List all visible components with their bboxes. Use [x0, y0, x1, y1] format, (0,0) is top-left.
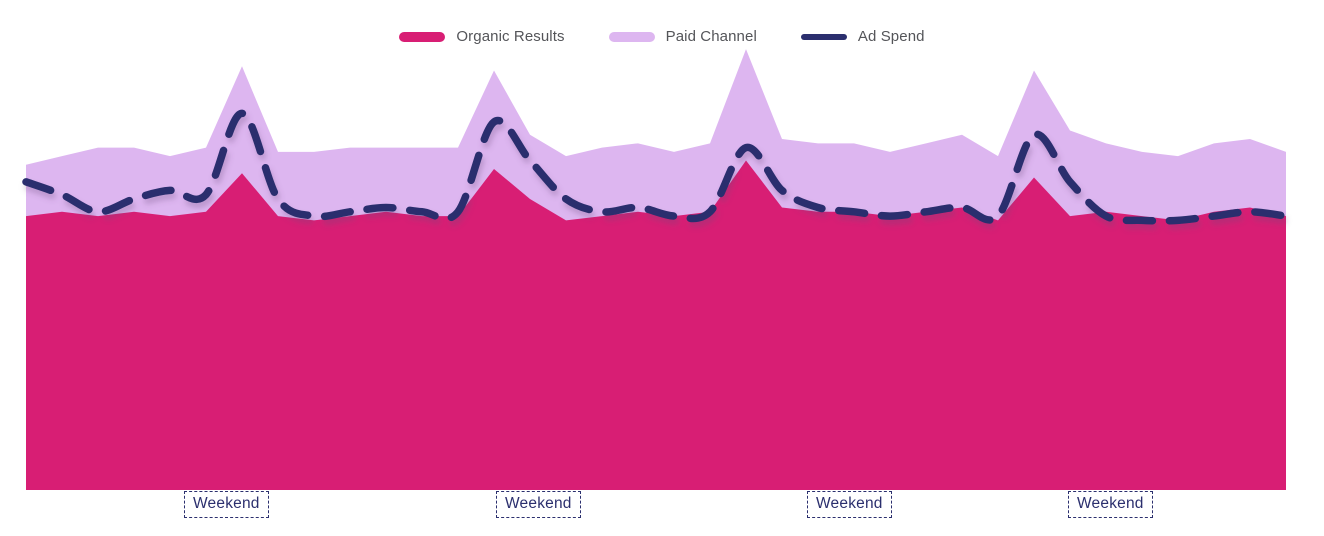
weekend-annotation-label: Weekend: [816, 495, 883, 512]
weekend-annotation: Weekend: [807, 491, 892, 518]
weekend-annotation: Weekend: [1068, 491, 1153, 518]
weekend-annotation-label: Weekend: [193, 495, 260, 512]
area-chart: Organic Results Paid Channel Ad Spend: [0, 0, 1324, 536]
weekend-annotation-label: Weekend: [505, 495, 572, 512]
plot-svg: [0, 0, 1324, 536]
plot-area: [0, 0, 1324, 536]
weekend-annotation-label: Weekend: [1077, 495, 1144, 512]
weekend-annotation: Weekend: [184, 491, 269, 518]
weekend-annotation: Weekend: [496, 491, 581, 518]
